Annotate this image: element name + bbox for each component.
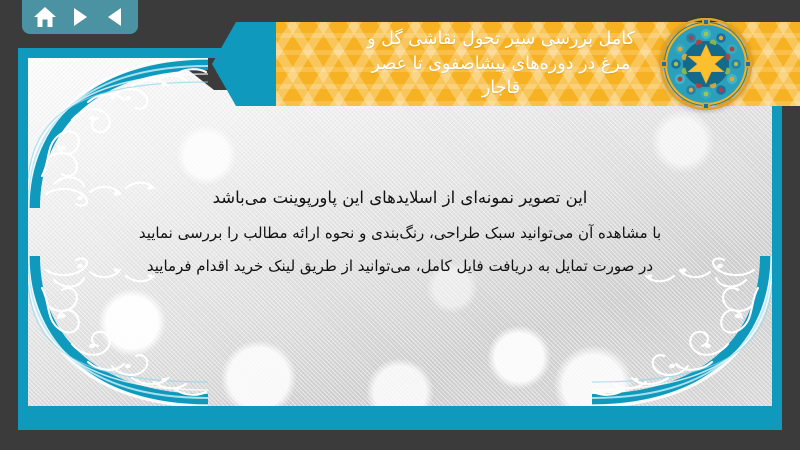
slide-body-text: این تصویر نمونه‌ای از اسلایدهای این پاور… xyxy=(38,180,762,283)
triangle-right-icon xyxy=(74,8,87,26)
body-line-3: در صورت تمایل به دریافت فایل کامل، می‌تو… xyxy=(52,250,748,283)
body-line-1: این تصویر نمونه‌ای از اسلایدهای این پاور… xyxy=(52,180,748,217)
previous-slide-button[interactable] xyxy=(102,5,128,29)
body-line-2: با مشاهده آن می‌توانید سبک طراحی، رنگ‌بن… xyxy=(52,217,748,250)
slide-content-sheet: این تصویر نمونه‌ای از اسلایدهای این پاور… xyxy=(28,58,772,406)
next-slide-button[interactable] xyxy=(67,5,93,29)
navigation-toolbar xyxy=(22,0,138,34)
triangle-left-icon xyxy=(108,8,121,26)
persian-rosette-medallion-icon xyxy=(660,18,752,110)
home-icon xyxy=(33,6,57,28)
slide-stage: این تصویر نمونه‌ای از اسلایدهای این پاور… xyxy=(0,0,800,450)
home-button[interactable] xyxy=(32,5,58,29)
